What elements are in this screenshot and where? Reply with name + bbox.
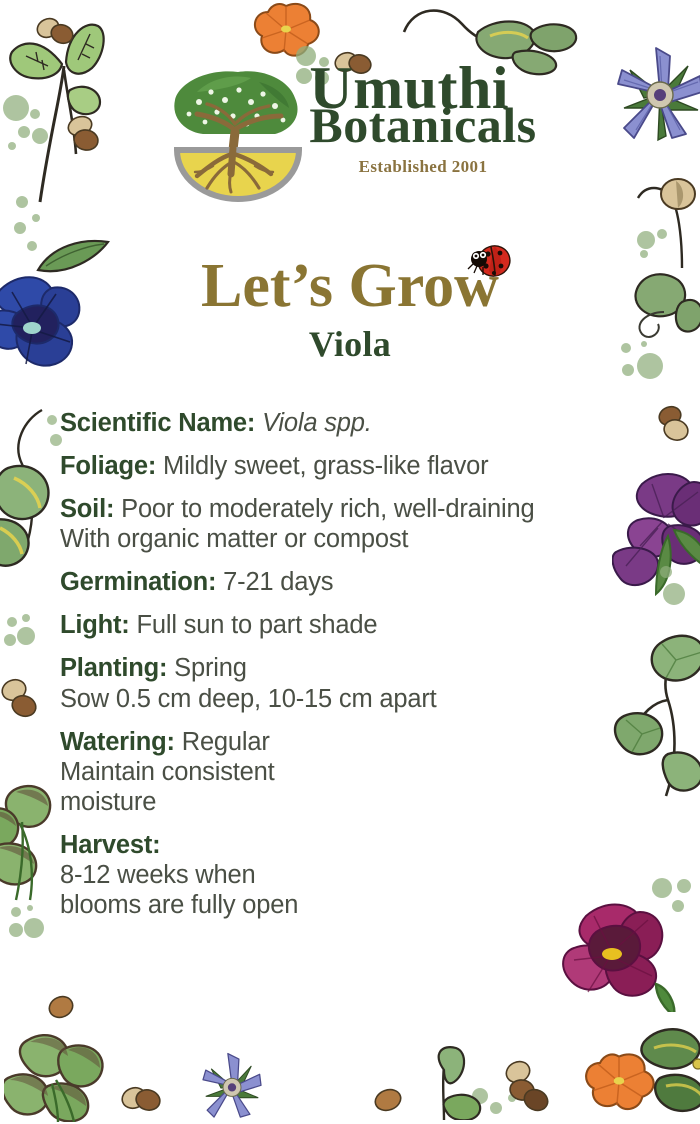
- ladybug-icon: [467, 239, 513, 283]
- info-row: Germination: 7-21 days: [60, 567, 660, 597]
- info-row: Planting: SpringSow 0.5 cm deep, 10-15 c…: [60, 653, 660, 713]
- info-row-main: Scientific Name: Viola spp.: [60, 408, 660, 438]
- info-label: Foliage:: [60, 452, 156, 480]
- info-value: Spring: [167, 654, 246, 682]
- info-label: Planting:: [60, 654, 167, 682]
- green-dot-icon: [2, 900, 50, 950]
- info-row-main: Soil: Poor to moderately rich, well-drai…: [60, 494, 660, 524]
- info-value: Viola spp.: [255, 409, 371, 437]
- info-continuation: Sow 0.5 cm deep, 10-15 cm apart: [60, 684, 660, 714]
- info-row: Harvest:8-12 weeks whenblooms are fully …: [60, 830, 660, 920]
- green-dot-icon: [452, 1080, 522, 1120]
- blue-borage-flower-icon: [182, 1048, 282, 1124]
- page-title: Let’s Grow: [201, 255, 499, 317]
- info-row: Foliage: Mildly sweet, grass-like flavor: [60, 451, 660, 481]
- brand-logo: Umuthi Botanicals Established 2001: [0, 52, 700, 203]
- info-label: Soil:: [60, 495, 114, 523]
- variety-name: Viola: [0, 323, 700, 365]
- info-row: Light: Full sun to part shade: [60, 610, 660, 640]
- info-row-main: Germination: 7-21 days: [60, 567, 660, 597]
- info-row: Scientific Name: Viola spp.: [60, 408, 660, 438]
- info-continuation: moisture: [60, 787, 660, 817]
- info-row-main: Planting: Spring: [60, 653, 660, 683]
- growing-info-list: Scientific Name: Viola spp.Foliage: Mild…: [60, 408, 660, 933]
- info-row: Soil: Poor to moderately rich, well-drai…: [60, 494, 660, 554]
- brown-seed-icon: [370, 1082, 406, 1118]
- info-row-main: Light: Full sun to part shade: [60, 610, 660, 640]
- info-continuation: blooms are fully open: [60, 890, 660, 920]
- green-dot-icon: [0, 608, 44, 658]
- brand-name-line2: Botanicals: [309, 101, 536, 149]
- info-label: Scientific Name:: [60, 409, 255, 437]
- info-continuation: With organic matter or compost: [60, 524, 660, 554]
- brown-seed-icon: [500, 1056, 556, 1120]
- info-continuation: 8-12 weeks when: [60, 860, 660, 890]
- info-row: Watering: RegularMaintain consistentmois…: [60, 727, 660, 817]
- green-leaf-vine-icon: [636, 1018, 700, 1120]
- info-label: Watering:: [60, 728, 175, 756]
- tree-with-roots-in-bowl-icon: [163, 58, 313, 203]
- info-label: Light:: [60, 611, 130, 639]
- info-value: Mildly sweet, grass-like flavor: [156, 452, 488, 480]
- brown-seed-icon: [44, 990, 80, 1024]
- info-label: Germination:: [60, 568, 216, 596]
- info-value: 7-21 days: [216, 568, 333, 596]
- clover-leaf-icon: [4, 1026, 114, 1122]
- info-value: Regular: [175, 728, 270, 756]
- info-label: Harvest:: [60, 831, 160, 859]
- orange-nasturtium-flower-icon: [576, 1046, 662, 1120]
- info-row-main: Harvest:: [60, 830, 660, 860]
- established-text: Established 2001: [309, 157, 536, 177]
- info-row-main: Watering: Regular: [60, 727, 660, 757]
- seed-packet: Umuthi Botanicals Established 2001 Let’s…: [0, 0, 700, 1120]
- info-value: Full sun to part shade: [130, 611, 378, 639]
- headline-block: Let’s Grow Viola: [0, 255, 700, 365]
- brown-seed-icon: [0, 676, 44, 722]
- page-title-text: Let’s Grow: [201, 252, 499, 320]
- info-row-main: Foliage: Mildly sweet, grass-like flavor: [60, 451, 660, 481]
- info-value: Poor to moderately rich, well-draining: [114, 495, 534, 523]
- brown-seed-icon: [120, 1080, 164, 1120]
- seedling-sprout-icon: [414, 1044, 484, 1120]
- info-continuation: Maintain consistent: [60, 757, 660, 787]
